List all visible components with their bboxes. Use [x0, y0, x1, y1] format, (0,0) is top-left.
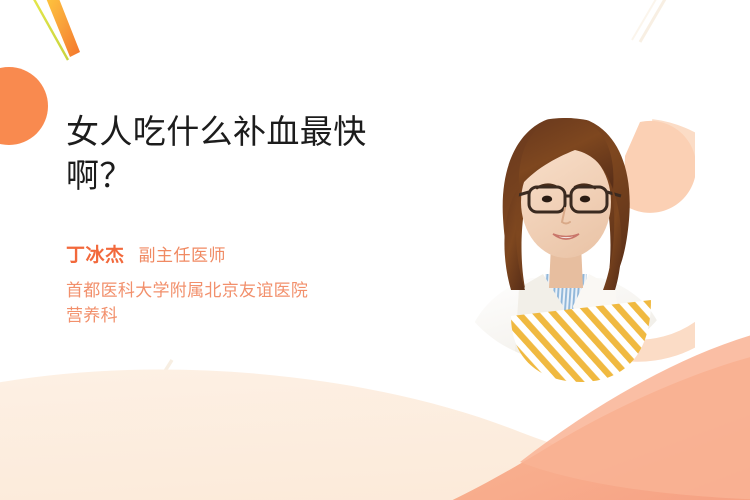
doctor-credential-line: 丁冰杰 副主任医师 [66, 240, 426, 267]
doctor-affiliation: 首都医科大学附属北京友谊医院 营养科 [66, 279, 426, 329]
text-block: 女人吃什么补血最快啊？ 丁冰杰 副主任医师 首都医科大学附属北京友谊医院 营养科 [66, 110, 426, 329]
doctor-portrait [455, 92, 695, 382]
doctor-rank-title: 副主任医师 [139, 241, 227, 266]
doctor-name: 丁冰杰 [66, 240, 125, 267]
eye-right [580, 196, 590, 203]
eye-left [542, 196, 552, 203]
doctor-info-card: 女人吃什么补血最快啊？ 丁冰杰 副主任医师 首都医科大学附属北京友谊医院 营养科 [0, 0, 750, 500]
orange-circle [0, 67, 48, 145]
doctor-portrait-image [455, 92, 695, 382]
page-title: 女人吃什么补血最快啊？ [66, 110, 426, 197]
faint-line-top-right [632, 0, 668, 42]
